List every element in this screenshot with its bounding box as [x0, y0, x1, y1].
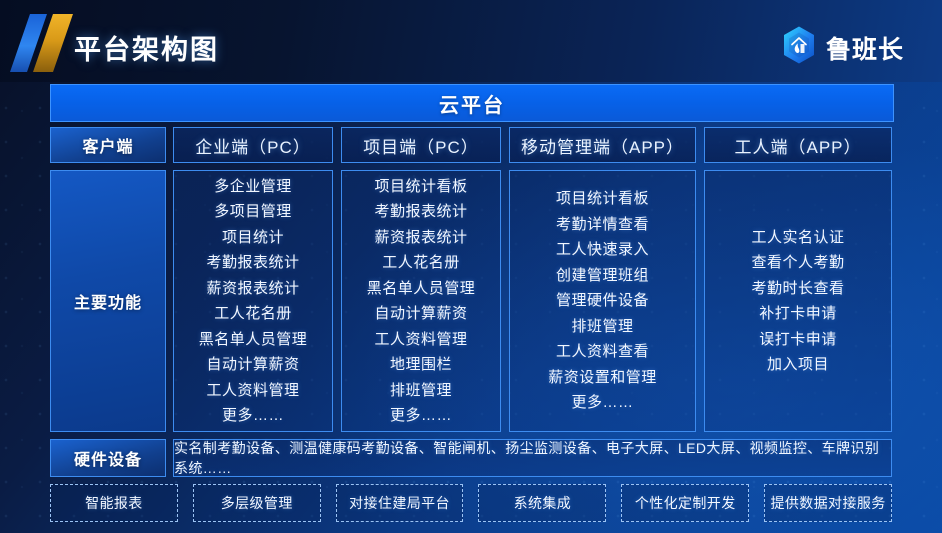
feature-item-more: 更多…… [390, 403, 452, 429]
client-head-label: 移动管理端（APP） [521, 133, 684, 158]
service-label: 系统集成 [514, 493, 572, 513]
page-title: 平台架构图 [74, 28, 219, 67]
feature-item: 考勤报表统计 [374, 199, 467, 225]
brand-name: 鲁班长 [826, 30, 904, 66]
feature-item: 多企业管理 [214, 174, 292, 200]
hardware-devices-text: 实名制考勤设备、测温健康码考勤设备、智能闸机、扬尘监测设备、电子大屏、LED大屏… [174, 438, 891, 478]
feature-item: 自动计算薪资 [374, 301, 467, 327]
feature-item: 工人资料查看 [556, 339, 649, 365]
feature-item: 黑名单人员管理 [367, 276, 476, 302]
service-item-data-docking-service: 提供数据对接服务 [764, 484, 892, 522]
feature-item: 考勤详情查看 [556, 212, 649, 238]
service-item-multilevel-management: 多层级管理 [193, 484, 321, 522]
hexagon-building-logo-icon [781, 25, 817, 70]
header-bar: 平台架构图 鲁班长 [0, 0, 942, 82]
feature-item: 查看个人考勤 [751, 250, 844, 276]
services-row: 智能报表 多层级管理 对接住建局平台 系统集成 个性化定制开发 提供数据对接服务 [50, 484, 892, 522]
service-item-housing-bureau-platform: 对接住建局平台 [336, 484, 464, 522]
tier-label-main-features: 主要功能 [50, 170, 166, 432]
feature-item: 地理围栏 [390, 352, 452, 378]
brand: 鲁班长 [781, 25, 904, 70]
service-label: 提供数据对接服务 [770, 493, 885, 513]
service-label: 智能报表 [85, 493, 143, 513]
feature-column-project-pc: 项目统计看板 考勤报表统计 薪资报表统计 工人花名册 黑名单人员管理 自动计算薪… [341, 170, 501, 432]
feature-column-enterprise-pc: 多企业管理 多项目管理 项目统计 考勤报表统计 薪资报表统计 工人花名册 黑名单… [173, 170, 333, 432]
client-head-enterprise-pc: 企业端（PC） [173, 127, 333, 163]
client-head-project-pc: 项目端（PC） [341, 127, 501, 163]
feature-item: 误打卡申请 [759, 327, 837, 353]
feature-item-more: 更多…… [222, 403, 284, 429]
feature-item: 薪资设置和管理 [548, 365, 657, 391]
feature-item: 工人花名册 [214, 301, 292, 327]
tier-label-client: 客户端 [50, 127, 166, 163]
client-head-label: 项目端（PC） [363, 133, 479, 158]
feature-item: 工人资料管理 [206, 378, 299, 404]
feature-item: 黑名单人员管理 [199, 327, 308, 353]
feature-item: 项目统计看板 [374, 174, 467, 200]
feature-item: 项目统计看板 [556, 186, 649, 212]
feature-item: 工人实名认证 [751, 225, 844, 251]
feature-item: 多项目管理 [214, 199, 292, 225]
feature-column-mobile-admin-app: 项目统计看板 考勤详情查看 工人快速录入 创建管理班组 管理硬件设备 排班管理 … [509, 170, 696, 432]
tier-label-client-text: 客户端 [82, 133, 133, 157]
feature-item: 项目统计 [222, 225, 284, 251]
service-label: 多层级管理 [221, 493, 293, 513]
feature-item: 工人资料管理 [374, 327, 467, 353]
feature-item: 排班管理 [571, 314, 633, 340]
feature-item: 考勤时长查看 [751, 276, 844, 302]
feature-column-worker-app: 工人实名认证 查看个人考勤 考勤时长查看 补打卡申请 误打卡申请 加入项目 [704, 170, 892, 432]
service-item-smart-report: 智能报表 [50, 484, 178, 522]
feature-item-more: 更多…… [571, 390, 633, 416]
feature-item: 考勤报表统计 [206, 250, 299, 276]
tier-label-hardware-text: 硬件设备 [74, 446, 142, 470]
service-label: 个性化定制开发 [635, 493, 736, 513]
feature-item: 自动计算薪资 [206, 352, 299, 378]
service-item-system-integration: 系统集成 [478, 484, 606, 522]
client-head-label: 企业端（PC） [195, 133, 311, 158]
service-item-custom-development: 个性化定制开发 [621, 484, 749, 522]
service-label: 对接住建局平台 [349, 493, 450, 513]
feature-item: 加入项目 [767, 352, 829, 378]
feature-item: 管理硬件设备 [556, 288, 649, 314]
tier-label-hardware: 硬件设备 [50, 439, 166, 477]
feature-item: 工人花名册 [382, 250, 460, 276]
tier-label-main-features-text: 主要功能 [74, 289, 142, 313]
feature-item: 薪资报表统计 [206, 276, 299, 302]
client-head-worker-app: 工人端（APP） [704, 127, 892, 163]
client-head-label: 工人端（APP） [734, 133, 861, 158]
cloud-platform-bar: 云平台 [50, 84, 894, 122]
feature-item: 工人快速录入 [556, 237, 649, 263]
feature-item: 薪资报表统计 [374, 225, 467, 251]
client-head-mobile-admin-app: 移动管理端（APP） [509, 127, 696, 163]
feature-item: 创建管理班组 [556, 263, 649, 289]
platform-architecture-diagram: 平台架构图 鲁班长 [0, 0, 942, 533]
cloud-platform-label: 云平台 [439, 89, 505, 118]
hardware-devices-content: 实名制考勤设备、测温健康码考勤设备、智能闸机、扬尘监测设备、电子大屏、LED大屏… [173, 439, 892, 477]
feature-item: 补打卡申请 [759, 301, 837, 327]
feature-item: 排班管理 [390, 378, 452, 404]
